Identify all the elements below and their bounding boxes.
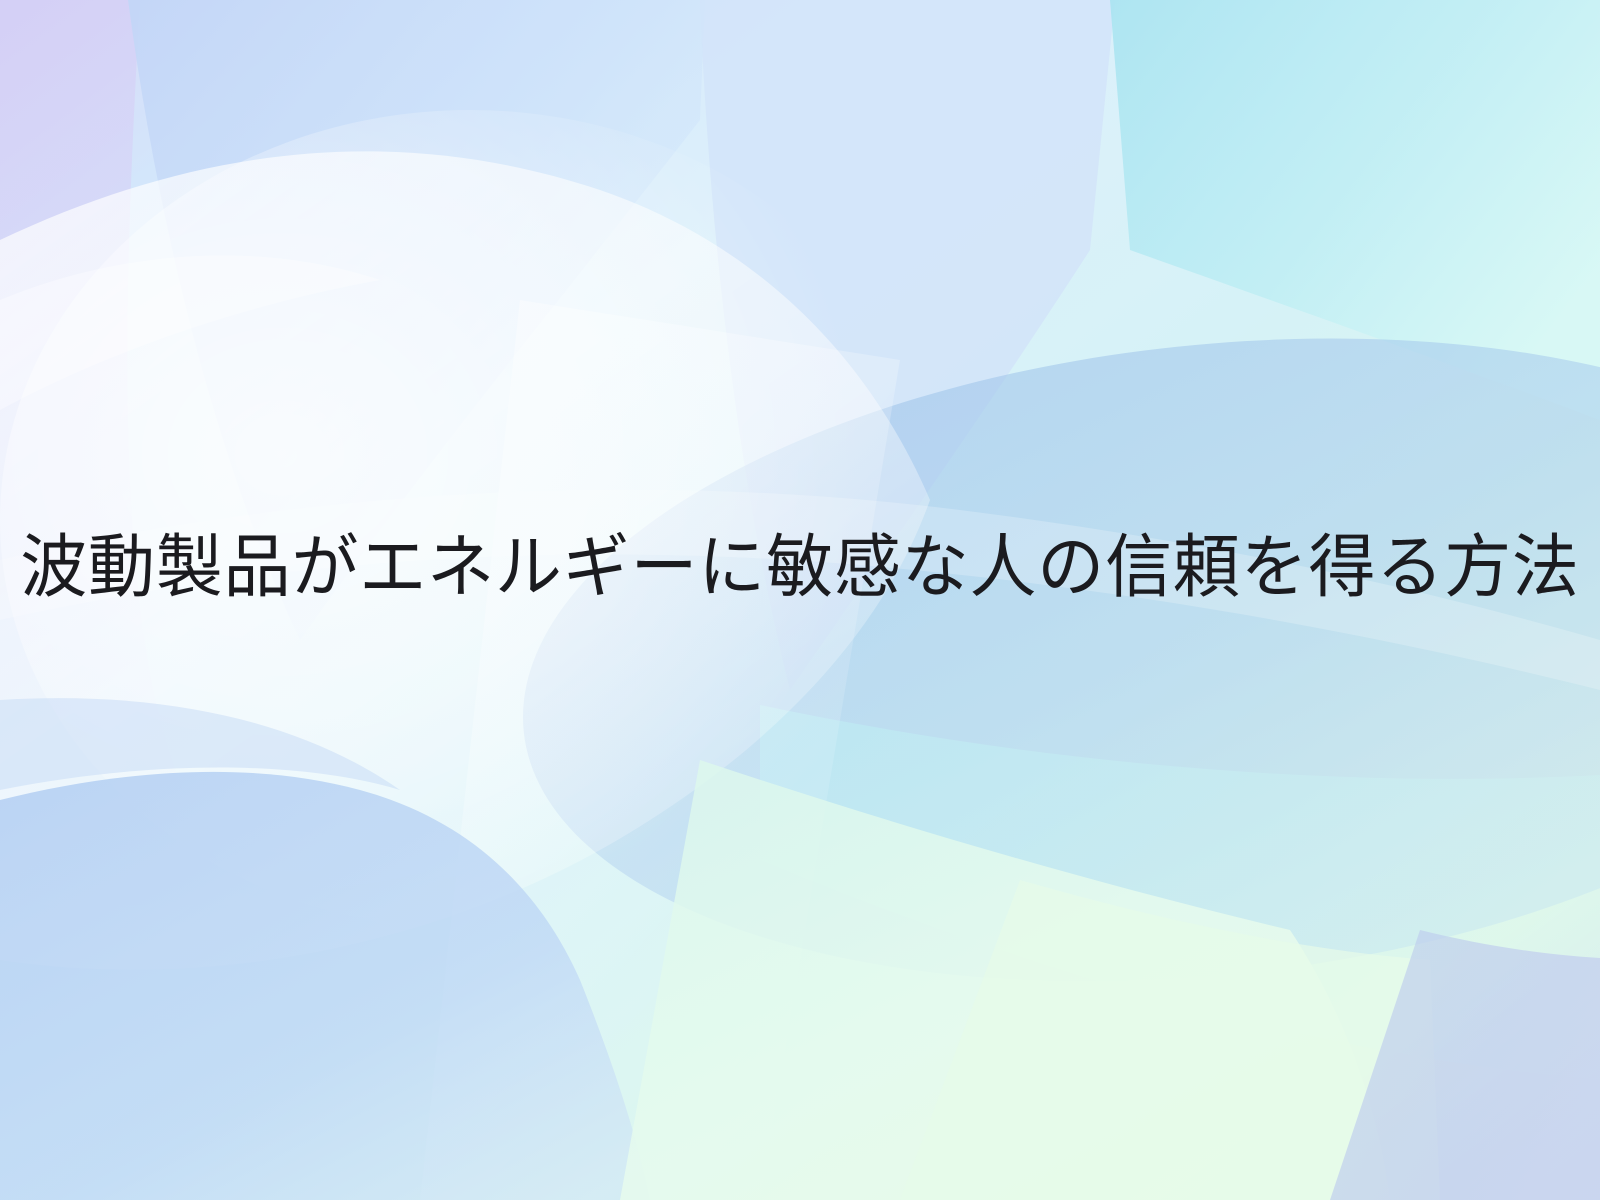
presentation-slide: 波動製品がエネルギーに敏感な人の信頼を得る方法 [0, 0, 1600, 1200]
title-layer: 波動製品がエネルギーに敏感な人の信頼を得る方法 [0, 0, 1600, 1200]
page-title: 波動製品がエネルギーに敏感な人の信頼を得る方法 [20, 520, 1580, 613]
